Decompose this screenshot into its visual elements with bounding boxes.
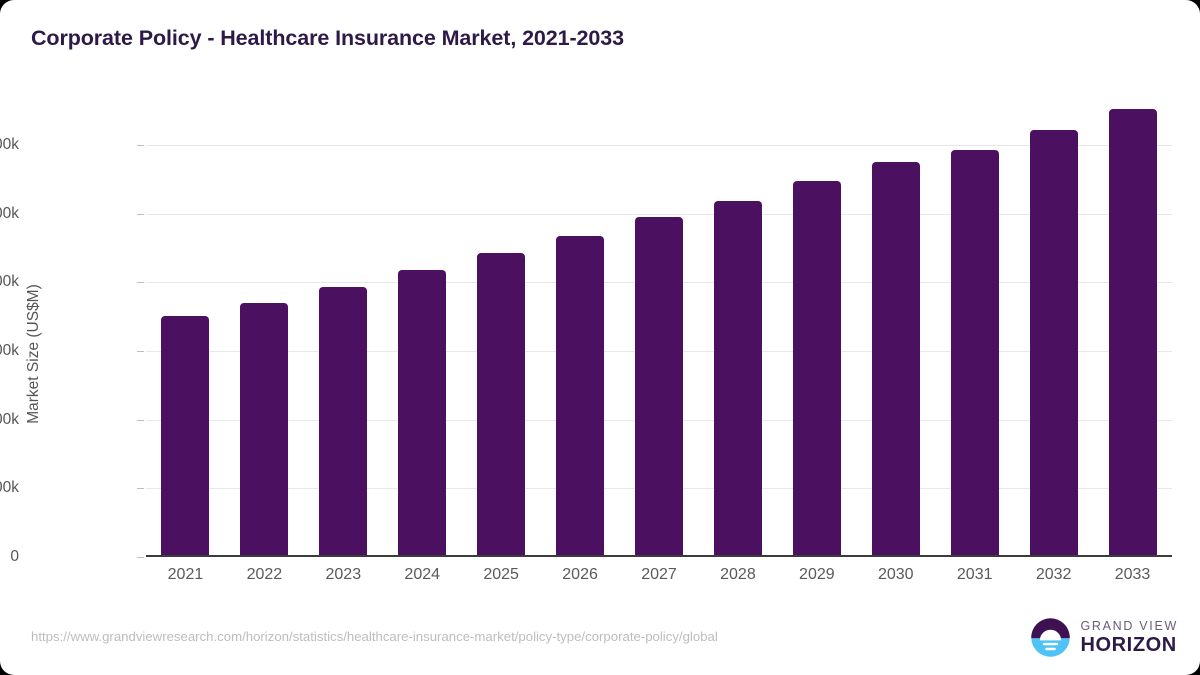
bar-slot	[304, 96, 383, 555]
y-axis-tick-label: 1,500k	[0, 342, 19, 360]
logo-bottom-text: HORIZON	[1080, 635, 1178, 655]
x-axis-tick-label: 2027	[614, 566, 704, 584]
y-axis-tick-mark	[137, 351, 144, 352]
grand-view-horizon-logo-icon	[1030, 617, 1071, 658]
bar-slot	[620, 96, 699, 555]
bar-slot	[462, 96, 541, 555]
bar[interactable]	[477, 253, 525, 555]
y-axis-tick-mark	[137, 488, 144, 489]
bar[interactable]	[240, 303, 288, 555]
bars-group	[146, 96, 1172, 555]
bar-slot	[698, 96, 777, 555]
bar-slot	[146, 96, 225, 555]
y-axis-tick-label: 1,000k	[0, 411, 19, 429]
y-axis-tick-mark	[137, 214, 144, 215]
bar[interactable]	[161, 316, 209, 555]
bar-slot	[1093, 96, 1172, 555]
x-axis-tick-label: 2029	[772, 566, 862, 584]
y-axis-tick-label: 500k	[0, 479, 19, 497]
logo-top-text: GRAND VIEW	[1080, 620, 1178, 633]
bar[interactable]	[1109, 109, 1157, 555]
bar[interactable]	[635, 217, 683, 555]
x-axis-tick-label: 2021	[140, 566, 230, 584]
bar[interactable]	[793, 181, 841, 555]
x-axis-line	[146, 555, 1172, 557]
x-axis-tick-label: 2030	[851, 566, 941, 584]
x-axis-tick-label: 2023	[298, 566, 388, 584]
bar-slot	[225, 96, 304, 555]
bar[interactable]	[714, 201, 762, 555]
x-axis-tick-label: 2024	[377, 566, 467, 584]
y-axis-title: Market Size (US$M)	[25, 154, 43, 554]
y-axis-tick-mark	[137, 282, 144, 283]
brand-logo[interactable]: GRAND VIEW HORIZON	[1030, 617, 1178, 658]
bar-slot	[541, 96, 620, 555]
bar-slot	[856, 96, 935, 555]
y-axis-tick-label: 0	[0, 548, 19, 566]
y-axis-tick-mark	[137, 145, 144, 146]
bar-slot	[1014, 96, 1093, 555]
x-axis-tick-label: 2026	[535, 566, 625, 584]
x-axis-tick-label: 2022	[219, 566, 309, 584]
bar-slot	[935, 96, 1014, 555]
x-axis-tick-label: 2025	[456, 566, 546, 584]
y-axis-tick-label: 2,000k	[0, 273, 19, 291]
bar-slot	[777, 96, 856, 555]
bar[interactable]	[872, 162, 920, 555]
logo-wordmark: GRAND VIEW HORIZON	[1080, 620, 1178, 656]
page-title: Corporate Policy - Healthcare Insurance …	[31, 26, 624, 51]
bar[interactable]	[556, 236, 604, 555]
x-axis-tick-label: 2031	[930, 566, 1020, 584]
y-axis-tick-mark	[137, 557, 144, 558]
bar[interactable]	[319, 287, 367, 555]
y-axis-tick-label: 3,000k	[0, 136, 19, 154]
bar-slot	[383, 96, 462, 555]
y-axis-tick-mark	[137, 420, 144, 421]
chart-card: Corporate Policy - Healthcare Insurance …	[0, 0, 1200, 675]
bar[interactable]	[398, 270, 446, 555]
x-axis-tick-label: 2028	[693, 566, 783, 584]
bar[interactable]	[951, 150, 999, 555]
bar[interactable]	[1030, 130, 1078, 555]
plot-area	[146, 96, 1172, 557]
y-axis-tick-label: 2,500k	[0, 205, 19, 223]
x-axis-tick-label: 2033	[1088, 566, 1178, 584]
source-url[interactable]: https://www.grandviewresearch.com/horizo…	[31, 629, 718, 644]
x-axis-tick-label: 2032	[1009, 566, 1099, 584]
